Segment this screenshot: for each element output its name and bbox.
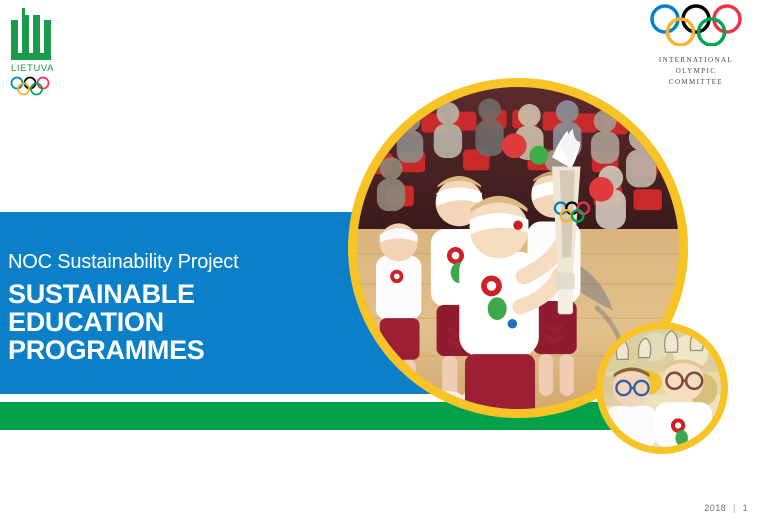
footer-page-number: 1: [743, 503, 748, 513]
title-block: NOC Sustainability Project SUSTAINABLE E…: [8, 250, 348, 364]
page-title: SUSTAINABLE EDUCATION PROGRAMMES: [8, 280, 348, 364]
headline-line-1: SUSTAINABLE: [8, 280, 348, 308]
olympic-rings-icon: [10, 76, 70, 101]
footer-year: 2018: [704, 503, 726, 513]
headline-line-3: PROGRAMMES: [8, 336, 348, 364]
olympic-rings-icon: [650, 4, 742, 46]
slide-canvas: LIETUVA INTER: [0, 0, 760, 521]
column-notch: [25, 6, 41, 15]
project-eyebrow: NOC Sustainability Project: [8, 250, 348, 274]
gediminas-columns-icon: [11, 6, 57, 60]
ioc-line-2: OLYMPIC: [644, 66, 748, 77]
children-with-glasses-photo: [603, 329, 721, 447]
ioc-line-1: INTERNATIONAL: [644, 55, 748, 66]
ioc-line-3: COMMITTEE: [644, 77, 748, 88]
column-base: [11, 53, 51, 60]
noc-lithuania-logo: LIETUVA: [8, 6, 70, 98]
headline-line-2: EDUCATION: [8, 308, 348, 336]
footer-separator: |: [733, 503, 736, 513]
ioc-logo: INTERNATIONAL OLYMPIC COMMITTEE: [644, 4, 748, 88]
inset-photo-circle: [596, 322, 728, 454]
noc-wordmark: LIETUVA: [11, 63, 70, 74]
photo-credit-text: © Marius Vizbaras: [744, 336, 752, 350]
photo-credit: © Marius Vizbaras: [738, 336, 752, 408]
ioc-wordmark: INTERNATIONAL OLYMPIC COMMITTEE: [644, 55, 748, 88]
slide-footer: 2018 | 1: [704, 503, 748, 513]
